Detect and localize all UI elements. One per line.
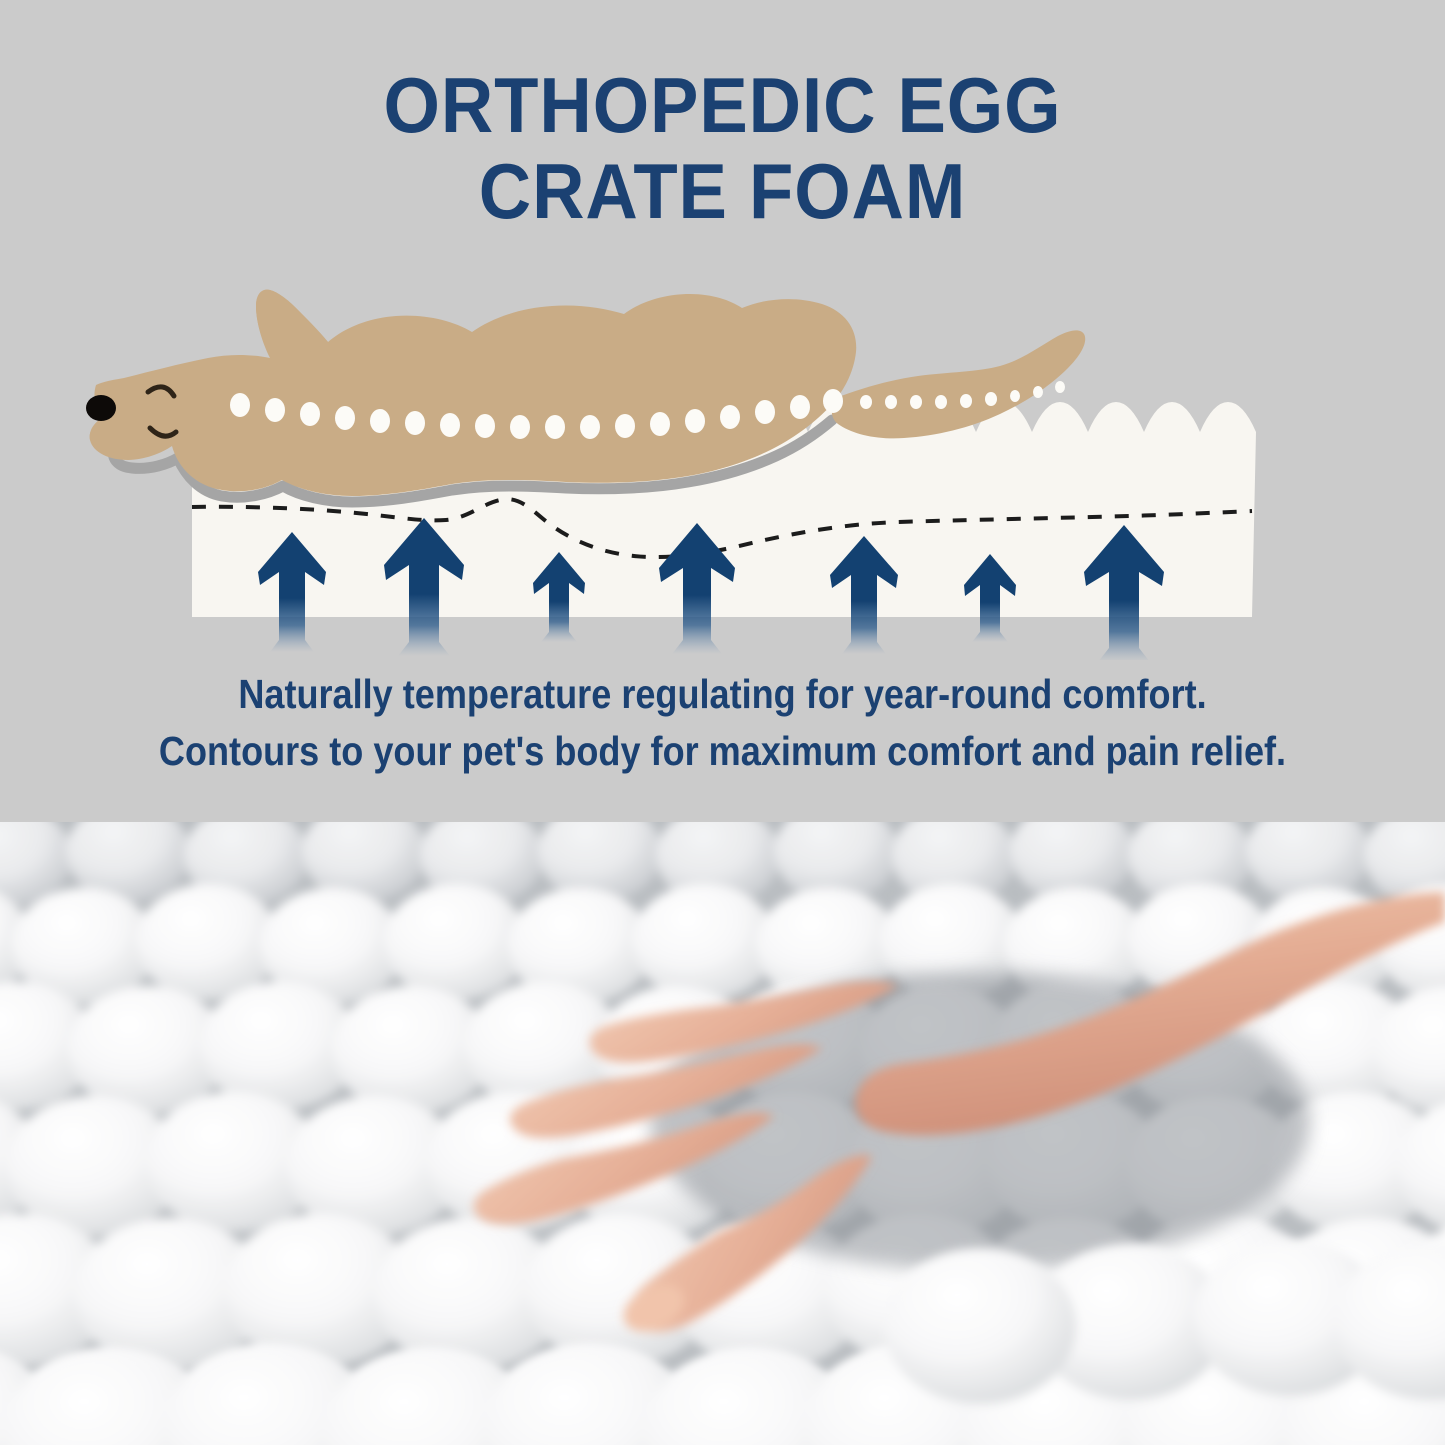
dog-nose (86, 395, 116, 421)
feature-caption: Naturally temperature regulating for yea… (0, 666, 1445, 780)
caption-line-1: Naturally temperature regulating for yea… (87, 666, 1359, 723)
product-feature-image: ORTHOPEDIC EGG CRATE FOAM (0, 0, 1445, 1445)
foam-support-illustration (0, 280, 1445, 660)
foam-texture-photo (0, 822, 1445, 1445)
page-title: ORTHOPEDIC EGG CRATE FOAM (51, 62, 1395, 234)
headline-line-2: CRATE FOAM (51, 148, 1395, 234)
top-info-panel: ORTHOPEDIC EGG CRATE FOAM (0, 0, 1445, 822)
headline-line-1: ORTHOPEDIC EGG (51, 62, 1395, 148)
caption-line-2: Contours to your pet's body for maximum … (87, 723, 1359, 780)
